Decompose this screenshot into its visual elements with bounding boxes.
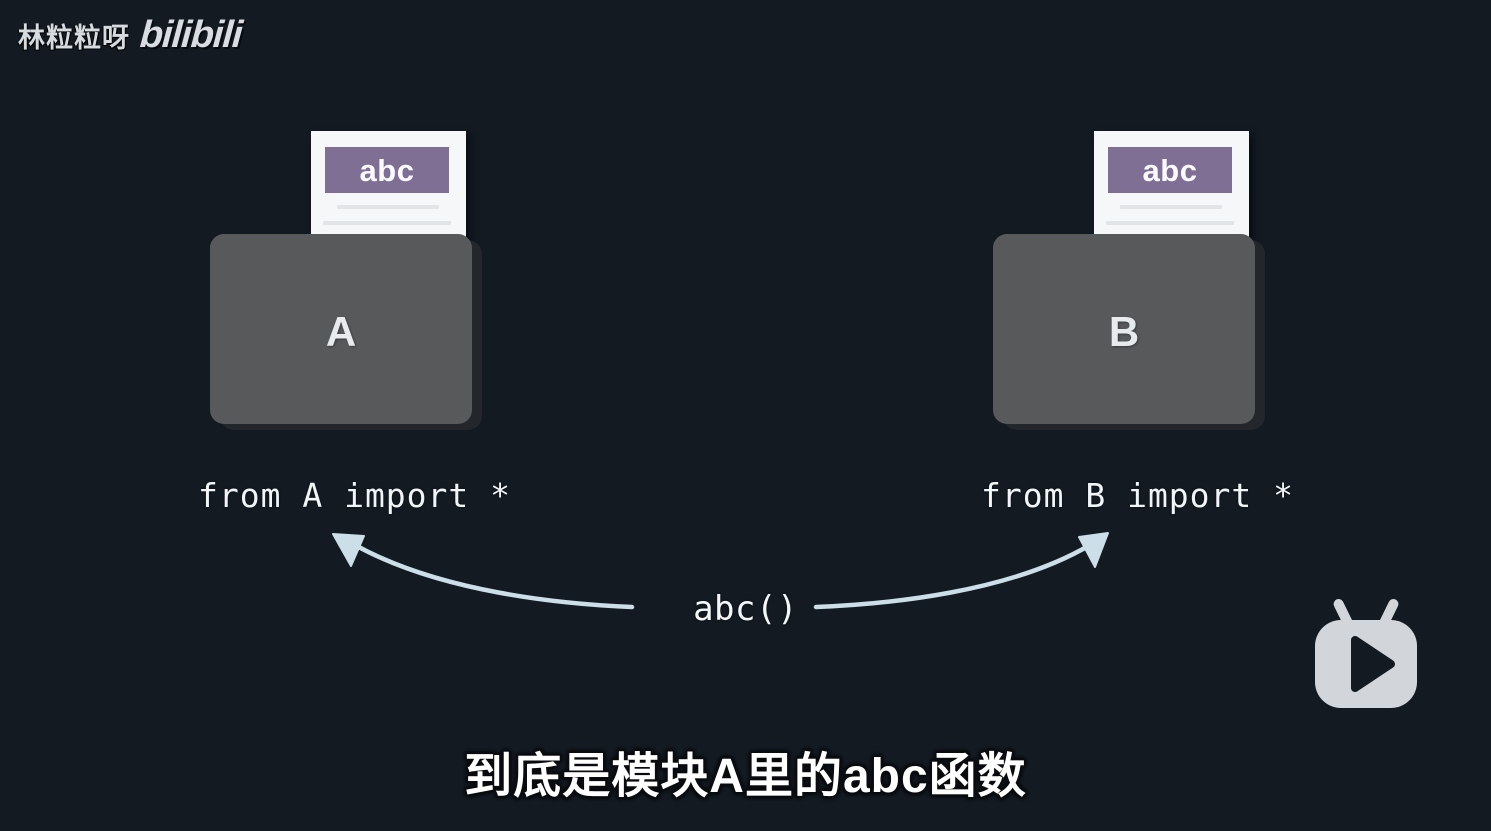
folder-icon-a: A — [210, 234, 472, 424]
module-group-a: abc A — [180, 120, 510, 520]
function-call-label: abc() — [0, 589, 1491, 629]
document-header-label-b: abc — [1143, 155, 1198, 186]
document-text-line — [1106, 221, 1234, 225]
module-group-b: abc B — [963, 120, 1293, 520]
watermark: 林粒粒呀 bilibili — [18, 14, 242, 57]
watermark-channel-name: 林粒粒呀 — [18, 16, 130, 55]
folder-body: A — [210, 234, 472, 424]
bilibili-tv-icon — [1311, 594, 1421, 712]
bilibili-wordmark-logo: bilibili — [138, 14, 243, 57]
arrowhead-right — [1079, 533, 1108, 567]
folder-body: B — [993, 234, 1255, 424]
document-header-band-a: abc — [325, 147, 449, 193]
document-header-band-b: abc — [1108, 147, 1232, 193]
document-text-line — [337, 205, 439, 209]
import-statement-b: from B import * — [981, 476, 1294, 515]
subtitle-text: 到底是模块A里的abc函数 — [0, 736, 1491, 806]
video-frame: 林粒粒呀 bilibili abc A abc — [0, 0, 1491, 831]
import-statement-a: from A import * — [198, 476, 511, 515]
folder-label-b: B — [1109, 311, 1139, 353]
folder-icon-b: B — [993, 234, 1255, 424]
folder-label-a: A — [326, 311, 356, 353]
document-text-line — [1120, 205, 1222, 209]
arrowhead-left — [333, 534, 364, 566]
document-header-label-a: abc — [360, 155, 415, 186]
document-text-line — [323, 221, 451, 225]
